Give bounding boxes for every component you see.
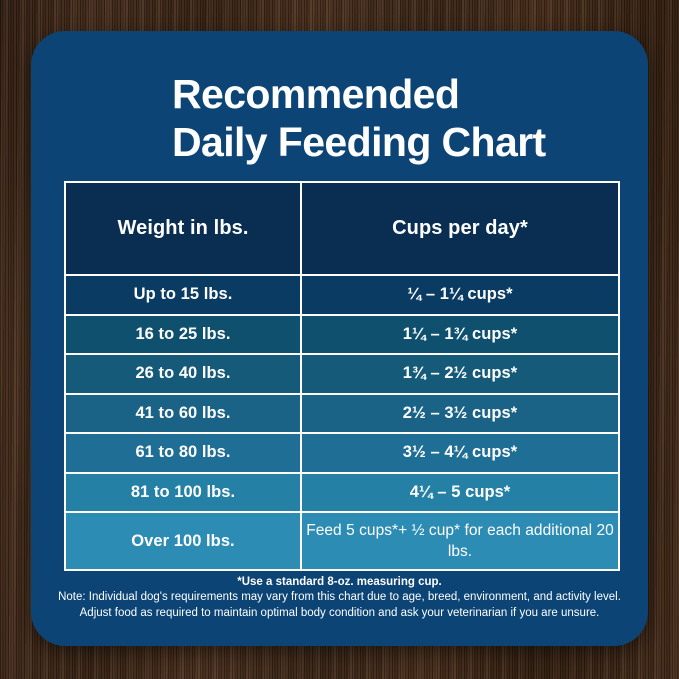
cell-cups: ¼ – 1¼ cups* xyxy=(302,276,618,316)
footnote-measuring-cup: *Use a standard 8-oz. measuring cup. xyxy=(31,574,648,590)
chart-title: Recommended Daily Feeding Chart xyxy=(31,70,648,166)
footnote-veterinarian: Adjust food as required to maintain opti… xyxy=(31,606,648,622)
cell-weight: Over 100 lbs. xyxy=(66,513,302,569)
feeding-table: Weight in lbs. Cups per day* Up to 15 lb… xyxy=(64,181,620,571)
cell-weight: 41 to 60 lbs. xyxy=(66,395,302,435)
cell-cups: 4¼ – 5 cups* xyxy=(302,474,618,514)
table-body: Up to 15 lbs. ¼ – 1¼ cups* 16 to 25 lbs.… xyxy=(66,276,618,569)
cell-cups: 2½ – 3½ cups* xyxy=(302,395,618,435)
footnotes: *Use a standard 8-oz. measuring cup. Not… xyxy=(31,574,648,621)
table-row: Over 100 lbs. Feed 5 cups*+ ½ cup* for e… xyxy=(66,513,618,569)
cell-weight: 61 to 80 lbs. xyxy=(66,434,302,474)
table-row: Up to 15 lbs. ¼ – 1¼ cups* xyxy=(66,276,618,316)
feeding-chart-card: Recommended Daily Feeding Chart Weight i… xyxy=(31,31,648,646)
cell-weight: 26 to 40 lbs. xyxy=(66,355,302,395)
cell-cups: 1¾ – 2½ cups* xyxy=(302,355,618,395)
cell-weight: 81 to 100 lbs. xyxy=(66,474,302,514)
table-header: Weight in lbs. Cups per day* xyxy=(66,183,618,276)
table-row: 16 to 25 lbs. 1¼ – 1¾ cups* xyxy=(66,316,618,356)
table-row: 41 to 60 lbs. 2½ – 3½ cups* xyxy=(66,395,618,435)
cell-cups: 3½ – 4¼ cups* xyxy=(302,434,618,474)
cell-weight: Up to 15 lbs. xyxy=(66,276,302,316)
cell-weight: 16 to 25 lbs. xyxy=(66,316,302,356)
table-header-row: Weight in lbs. Cups per day* xyxy=(66,183,618,276)
title-line-2: Daily Feeding Chart xyxy=(172,118,648,166)
table-row: 61 to 80 lbs. 3½ – 4¼ cups* xyxy=(66,434,618,474)
footnote-variation: Note: Individual dog's requirements may … xyxy=(31,590,648,606)
table-row: 81 to 100 lbs. 4¼ – 5 cups* xyxy=(66,474,618,514)
cell-cups: 1¼ – 1¾ cups* xyxy=(302,316,618,356)
header-weight: Weight in lbs. xyxy=(66,183,302,276)
header-cups: Cups per day* xyxy=(302,183,618,276)
title-line-1: Recommended xyxy=(172,70,648,118)
table-row: 26 to 40 lbs. 1¾ – 2½ cups* xyxy=(66,355,618,395)
cell-cups: Feed 5 cups*+ ½ cup* for each additional… xyxy=(302,513,618,569)
